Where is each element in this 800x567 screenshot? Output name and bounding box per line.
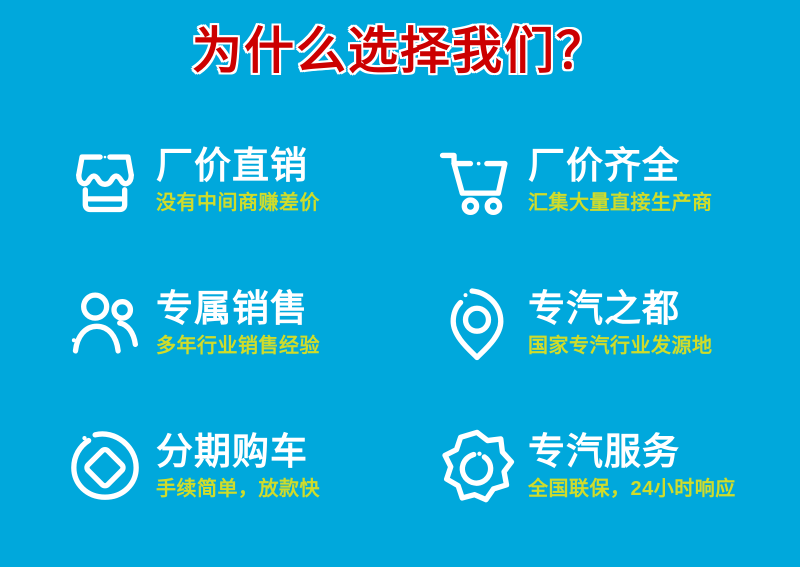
feature-title: 厂价齐全 (528, 145, 713, 187)
feature-text-block: 专属销售 多年行业销售经验 (156, 288, 320, 358)
feature-subtitle: 没有中间商赚差价 (156, 191, 320, 215)
promo-banner: 为什么选择我们？ 厂价直销 没有中间商赚差价 (0, 0, 800, 567)
feature-title: 厂价直销 (156, 145, 320, 187)
feature-item-dedicated-sales: 专属销售 多年行业销售经验 (0, 251, 400, 394)
page-title: 为什么选择我们？ (192, 22, 608, 80)
feature-grid: 厂价直销 没有中间商赚差价 厂价齐全 汇集大量直接生产商 (0, 108, 800, 538)
location-pin-icon (434, 280, 520, 366)
feature-item-special-vehicle-capital: 专汽之都 国家专汽行业发源地 (400, 251, 800, 394)
feature-text-block: 专汽之都 国家专汽行业发源地 (528, 288, 713, 358)
feature-text-block: 专汽服务 全国联保，24小时响应 (528, 431, 736, 501)
feature-title: 专汽之都 (528, 288, 713, 330)
feature-item-factory-direct-sales: 厂价直销 没有中间商赚差价 (0, 108, 400, 251)
storefront-icon (62, 137, 148, 223)
feature-item-full-factory-range: 厂价齐全 汇集大量直接生产商 (400, 108, 800, 251)
feature-text-block: 厂价直销 没有中间商赚差价 (156, 145, 320, 215)
feature-subtitle: 国家专汽行业发源地 (528, 334, 713, 358)
feature-subtitle: 汇集大量直接生产商 (528, 191, 713, 215)
feature-item-installment-purchase: 分期购车 手续简单，放款快 (0, 395, 400, 538)
feature-item-special-vehicle-service: 专汽服务 全国联保，24小时响应 (400, 395, 800, 538)
feature-title: 专汽服务 (528, 431, 736, 473)
feature-text-block: 厂价齐全 汇集大量直接生产商 (528, 145, 713, 215)
feature-title: 分期购车 (156, 431, 320, 473)
feature-subtitle: 全国联保，24小时响应 (528, 477, 736, 501)
feature-text-block: 分期购车 手续简单，放款快 (156, 431, 320, 501)
headline-container: 为什么选择我们？ (0, 22, 800, 80)
shopping-cart-icon (434, 137, 520, 223)
gear-icon (434, 423, 520, 509)
feature-subtitle: 多年行业销售经验 (156, 334, 320, 358)
feature-title: 专属销售 (156, 288, 320, 330)
feature-subtitle: 手续简单，放款快 (156, 477, 320, 501)
diamond-in-circle-icon (62, 423, 148, 509)
two-people-icon (62, 280, 148, 366)
